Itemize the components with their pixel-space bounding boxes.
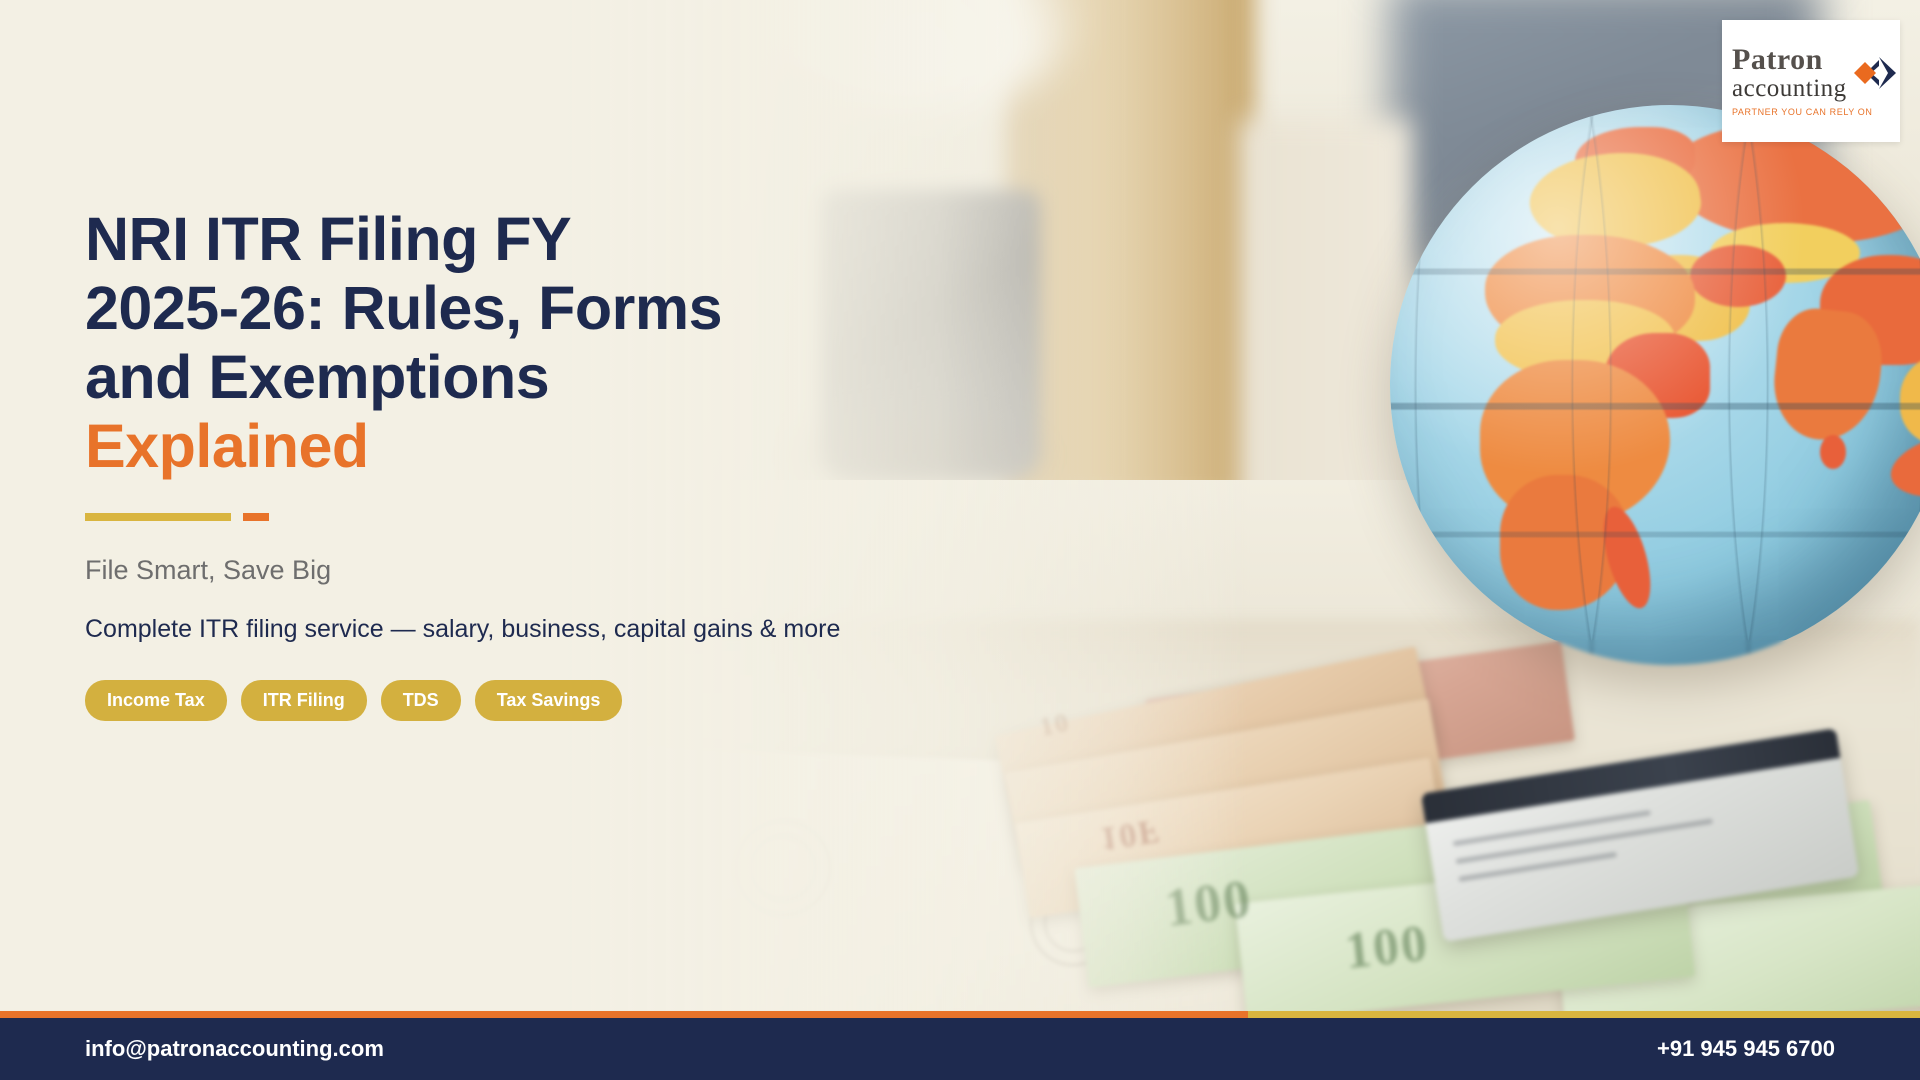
globe-highlight: [1390, 105, 1920, 665]
logo[interactable]: Patron accounting PARTNER YOU CAN RELY O…: [1722, 20, 1900, 142]
headline-accent-word: Explained: [85, 412, 845, 481]
accent-rules: [85, 513, 985, 521]
tag-pill-tds[interactable]: TDS: [381, 680, 461, 721]
footer-accent-stripe: [0, 1011, 1920, 1018]
footer-bar: info@patronaccounting.com +91 945 945 67…: [0, 1018, 1920, 1080]
tag-pill-itr-filing[interactable]: ITR Filing: [241, 680, 367, 721]
tag-pill-income-tax[interactable]: Income Tax: [85, 680, 227, 721]
footer-phone[interactable]: +91 945 945 6700: [1657, 1036, 1835, 1062]
tagline: File Smart, Save Big: [85, 555, 985, 586]
arrow-chevron-icon: [1840, 51, 1902, 95]
blurred-wall-panel: [1240, 120, 1410, 520]
footer-email[interactable]: info@patronaccounting.com: [85, 1036, 384, 1062]
globe-landmass: [1910, 535, 1920, 625]
accent-rule-orange: [243, 513, 269, 521]
accent-rule-gold: [85, 513, 231, 521]
card-text-line: [1453, 810, 1651, 846]
globe-sphere: [1390, 105, 1920, 665]
stripe-segment-orange: [0, 1011, 1248, 1018]
logo-tagline: PARTNER YOU CAN RELY ON: [1732, 107, 1890, 117]
banknote-denomination: 100: [1342, 914, 1432, 981]
hero-content: NRI ITR Filing FY 2025-26: Rules, Forms …: [85, 0, 985, 721]
tag-pill-tax-savings[interactable]: Tax Savings: [475, 680, 623, 721]
page-title: NRI ITR Filing FY 2025-26: Rules, Forms …: [85, 205, 845, 481]
world-globe: [1390, 105, 1920, 665]
tag-pill-list: Income Tax ITR Filing TDS Tax Savings: [85, 680, 985, 721]
headline-line-2: 2025-26: Rules, Forms: [85, 274, 722, 342]
hero-banner: 100 100 10F 10: [0, 0, 1920, 1080]
description: Complete ITR filing service — salary, bu…: [85, 612, 885, 647]
stripe-segment-gold: [1248, 1011, 1920, 1018]
headline-line-1: NRI ITR Filing FY: [85, 205, 571, 273]
headline-line-3: and Exemptions: [85, 343, 549, 411]
